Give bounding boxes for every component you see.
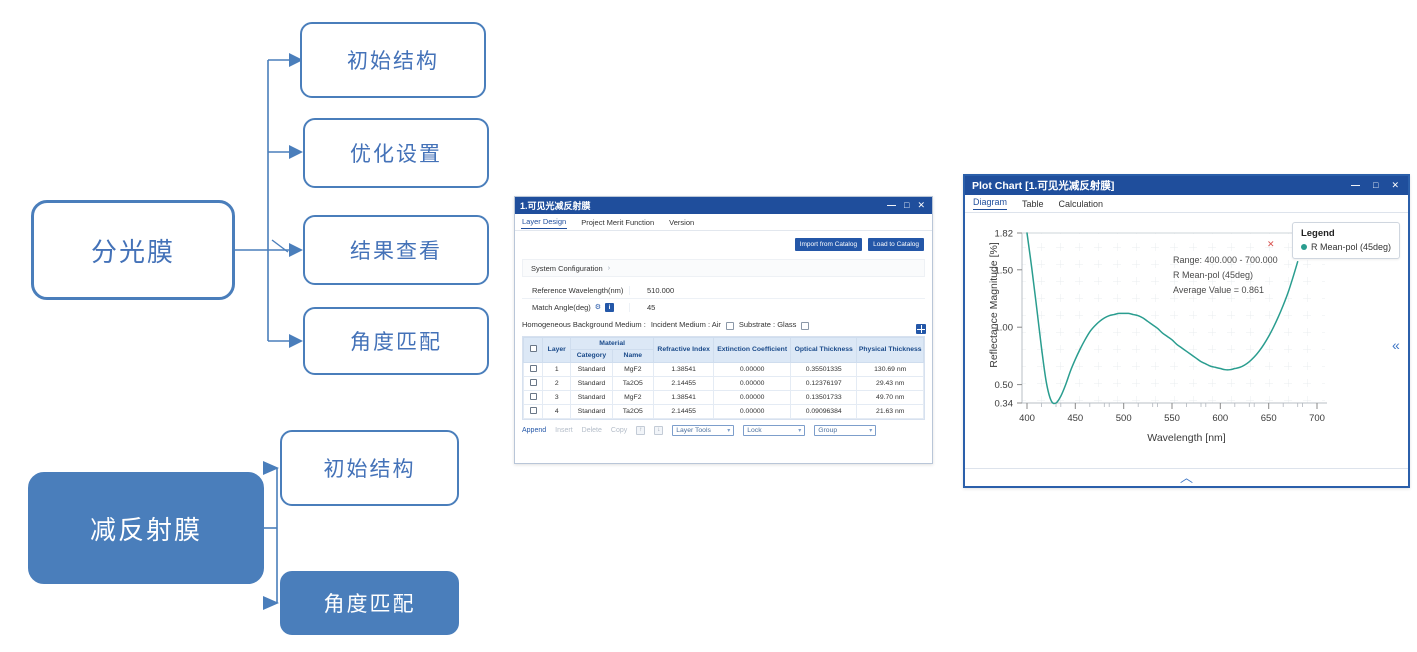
system-configuration-label: System Configuration bbox=[531, 264, 603, 273]
header-layer: Layer bbox=[543, 338, 571, 363]
plot-window-title: Plot Chart [1.可见光减反射膜] bbox=[972, 178, 1351, 193]
select-all-checkbox[interactable] bbox=[530, 345, 537, 352]
diagram-node-label: 角度匹配 bbox=[350, 326, 442, 356]
xtick-450: 450 bbox=[1067, 413, 1083, 424]
cell-category: Standard bbox=[571, 362, 612, 376]
cell-refractive-index: 2.14455 bbox=[653, 376, 713, 390]
chevron-right-icon: › bbox=[608, 265, 610, 272]
cell-name: Ta2O5 bbox=[612, 376, 653, 390]
cell-category: Standard bbox=[571, 404, 612, 418]
cell-extinction-coefficient: 0.00000 bbox=[714, 390, 791, 404]
edit-substrate-icon[interactable] bbox=[801, 322, 809, 330]
cell-extinction-coefficient: 0.00000 bbox=[714, 376, 791, 390]
header-optical-thickness: Optical Thickness bbox=[790, 338, 856, 363]
edit-incident-medium-icon[interactable] bbox=[726, 322, 734, 330]
chevron-down-icon: ▾ bbox=[798, 427, 801, 434]
gear-icon[interactable]: ⚙ bbox=[595, 303, 601, 311]
lock-label: Lock bbox=[747, 427, 761, 434]
layer-window-menubar: Layer Design Project Merit Function Vers… bbox=[515, 214, 932, 231]
cell-extinction-coefficient: 0.00000 bbox=[714, 362, 791, 376]
background-medium-row: Homogeneous Background Medium : Incident… bbox=[522, 320, 925, 329]
xtick-550: 550 bbox=[1164, 413, 1180, 424]
cell-refractive-index: 1.38541 bbox=[653, 390, 713, 404]
minimize-icon[interactable]: — bbox=[1351, 181, 1360, 190]
diagram-node-label: 结果查看 bbox=[350, 235, 442, 265]
cell-name: Ta2O5 bbox=[612, 404, 653, 418]
param-label: Reference Wavelength(nm) bbox=[522, 286, 629, 295]
row-checkbox-cell[interactable] bbox=[524, 404, 543, 418]
table-row[interactable]: 4 Standard Ta2O5 2.14455 0.00000 0.09096… bbox=[524, 404, 924, 418]
legend-title: Legend bbox=[1301, 228, 1391, 239]
menu-item-version[interactable]: Version bbox=[668, 216, 695, 229]
xtick-600: 600 bbox=[1212, 413, 1228, 424]
incident-medium-value: Incident Medium : Air bbox=[651, 320, 721, 329]
y-axis-label: Reflectance Magnitude [%] bbox=[988, 230, 1000, 380]
collapse-panel-icon[interactable]: « bbox=[1392, 337, 1400, 353]
chart-annotation: Range: 400.000 - 700.000 R Mean-pol (45d… bbox=[1173, 253, 1278, 298]
header-extinction-coefficient: Extinction Coefficient bbox=[714, 338, 791, 363]
row-checkbox[interactable] bbox=[530, 365, 537, 372]
chart-legend: Legend R Mean-pol (45deg) bbox=[1292, 222, 1400, 259]
layer-tools-label: Layer Tools bbox=[676, 427, 711, 434]
cell-physical-thickness: 49.70 nm bbox=[857, 390, 924, 404]
cell-name: MgF2 bbox=[612, 390, 653, 404]
flow-diagram: 分光膜 初始结构 优化设置 结果查看 角度匹配 减反射膜 初始结构 角度匹配 bbox=[0, 0, 500, 652]
match-angle-value[interactable]: 45 bbox=[629, 303, 925, 312]
row-checkbox-cell[interactable] bbox=[524, 362, 543, 376]
background-medium-label: Homogeneous Background Medium : bbox=[522, 320, 646, 329]
minimize-icon[interactable]: — bbox=[887, 201, 896, 210]
annotation-range: Range: 400.000 - 700.000 bbox=[1173, 253, 1278, 268]
xtick-400: 400 bbox=[1019, 413, 1035, 424]
catalog-toolbar: Import from Catalog Load to Catalog bbox=[515, 231, 932, 256]
layer-table: Layer Material Refractive Index Extincti… bbox=[523, 337, 924, 419]
cell-extinction-coefficient: 0.00000 bbox=[714, 404, 791, 418]
diagram-node-1-child-3[interactable]: 结果查看 bbox=[303, 215, 489, 285]
cell-physical-thickness: 130.69 nm bbox=[857, 362, 924, 376]
chevron-down-icon: ▾ bbox=[869, 427, 872, 434]
table-settings-icon[interactable] bbox=[916, 324, 926, 334]
cell-physical-thickness: 29.43 nm bbox=[857, 376, 924, 390]
tab-diagram[interactable]: Diagram bbox=[973, 197, 1007, 210]
header-name: Name bbox=[612, 350, 653, 362]
layer-window-titlebar[interactable]: 1.可见光减反射膜 — □ ✕ bbox=[515, 197, 932, 214]
table-row[interactable]: 1 Standard MgF2 1.38541 0.00000 0.355013… bbox=[524, 362, 924, 376]
delete-button[interactable]: Delete bbox=[582, 427, 602, 434]
table-header-row: Layer Material Refractive Index Extincti… bbox=[524, 338, 924, 350]
diagram-node-label: 分光膜 bbox=[91, 232, 175, 269]
close-icon[interactable]: ✕ bbox=[1391, 181, 1399, 190]
header-material: Material bbox=[571, 338, 654, 350]
cell-layer: 4 bbox=[543, 404, 571, 418]
diagram-node-2-child-2[interactable]: 角度匹配 bbox=[280, 571, 459, 635]
info-icon[interactable]: i bbox=[605, 303, 614, 312]
legend-entry[interactable]: R Mean-pol (45deg) bbox=[1301, 242, 1391, 252]
chart-footer: ︿ bbox=[965, 468, 1408, 486]
maximize-icon[interactable]: □ bbox=[904, 201, 909, 210]
plot-window-menubar: Diagram Table Calculation bbox=[965, 195, 1408, 213]
xtick-700: 700 bbox=[1309, 413, 1325, 424]
tab-table[interactable]: Table bbox=[1022, 199, 1044, 209]
chevron-up-icon[interactable]: ︿ bbox=[1180, 471, 1193, 484]
cell-name: MgF2 bbox=[612, 362, 653, 376]
cell-layer: 2 bbox=[543, 376, 571, 390]
cell-refractive-index: 2.14455 bbox=[653, 404, 713, 418]
annotation-average: Average Value = 0.861 bbox=[1173, 283, 1278, 298]
close-icon[interactable]: ✕ bbox=[917, 201, 925, 210]
ytick-050: 0.50 bbox=[995, 380, 1014, 391]
param-row-reference-wavelength: Reference Wavelength(nm) 510.000 bbox=[522, 283, 925, 299]
param-row-match-angle: Match Angle(deg) ⚙ i 45 bbox=[522, 299, 925, 315]
cell-optical-thickness: 0.35501335 bbox=[790, 362, 856, 376]
group-dropdown[interactable]: Group ▾ bbox=[814, 425, 876, 436]
diagram-node-2-child-1[interactable]: 初始结构 bbox=[280, 430, 459, 506]
ytick-034: 0.34 bbox=[995, 399, 1014, 410]
cell-optical-thickness: 0.13501733 bbox=[790, 390, 856, 404]
move-up-icon[interactable]: ↑ bbox=[636, 426, 645, 435]
lock-dropdown[interactable]: Lock ▾ bbox=[743, 425, 805, 436]
import-from-catalog-button[interactable]: Import from Catalog bbox=[795, 238, 862, 251]
row-checkbox[interactable] bbox=[530, 407, 537, 414]
chart-canvas: 1.82 1.50 1.00 0.50 0.34 bbox=[965, 213, 1408, 469]
chevron-down-icon: ▾ bbox=[727, 427, 730, 434]
reference-wavelength-value[interactable]: 510.000 bbox=[629, 286, 925, 295]
row-checkbox[interactable] bbox=[530, 379, 537, 386]
menu-item-project-merit-function[interactable]: Project Merit Function bbox=[580, 216, 655, 229]
xtick-500: 500 bbox=[1116, 413, 1132, 424]
plot-window-titlebar[interactable]: Plot Chart [1.可见光减反射膜] — □ ✕ bbox=[965, 176, 1408, 195]
append-button[interactable]: Append bbox=[522, 427, 546, 434]
diagram-node-label: 优化设置 bbox=[350, 138, 442, 168]
maximize-icon[interactable]: □ bbox=[1373, 181, 1378, 190]
load-to-catalog-button[interactable]: Load to Catalog bbox=[868, 238, 924, 251]
header-category: Category bbox=[571, 350, 612, 362]
layer-table-toolbar: Append Insert Delete Copy ↑ ↓ Layer Tool… bbox=[522, 425, 925, 440]
xtick-650: 650 bbox=[1261, 413, 1277, 424]
row-checkbox[interactable] bbox=[530, 393, 537, 400]
plot-chart-window: Plot Chart [1.可见光减反射膜] — □ ✕ Diagram Tab… bbox=[963, 174, 1410, 488]
cell-optical-thickness: 0.09096384 bbox=[790, 404, 856, 418]
cell-category: Standard bbox=[571, 376, 612, 390]
header-refractive-index: Refractive Index bbox=[653, 338, 713, 363]
header-physical-thickness: Physical Thickness bbox=[857, 338, 924, 363]
diagram-node-label: 角度匹配 bbox=[324, 588, 416, 618]
legend-entry-label: R Mean-pol (45deg) bbox=[1311, 242, 1391, 252]
param-label: Match Angle(deg) ⚙ i bbox=[522, 303, 629, 312]
header-select-all[interactable] bbox=[524, 338, 543, 363]
cell-physical-thickness: 21.63 nm bbox=[857, 404, 924, 418]
annotation-close-icon[interactable]: ✕ bbox=[1267, 239, 1275, 250]
cell-optical-thickness: 0.12376197 bbox=[790, 376, 856, 390]
diagram-node-root-2[interactable]: 减反射膜 bbox=[28, 472, 264, 584]
menu-item-layer-design[interactable]: Layer Design bbox=[521, 215, 567, 229]
legend-color-dot bbox=[1301, 244, 1307, 250]
layer-table-container: Layer Material Refractive Index Extincti… bbox=[522, 336, 925, 420]
x-axis-label: Wavelength [nm] bbox=[965, 432, 1408, 444]
parameter-table: Reference Wavelength(nm) 510.000 Match A… bbox=[522, 283, 925, 315]
move-down-icon[interactable]: ↓ bbox=[654, 426, 663, 435]
cell-layer: 1 bbox=[543, 362, 571, 376]
substrate-value: Substrate : Glass bbox=[739, 320, 797, 329]
cell-category: Standard bbox=[571, 390, 612, 404]
diagram-node-1-child-1[interactable]: 初始结构 bbox=[300, 22, 486, 98]
system-configuration-section[interactable]: System Configuration › bbox=[522, 259, 925, 277]
group-label: Group bbox=[818, 427, 837, 434]
row-checkbox-cell[interactable] bbox=[524, 390, 543, 404]
layer-tools-dropdown[interactable]: Layer Tools ▾ bbox=[672, 425, 734, 436]
diagram-node-label: 初始结构 bbox=[347, 45, 439, 75]
layer-window-title: 1.可见光减反射膜 bbox=[520, 199, 887, 212]
diagram-node-label: 减反射膜 bbox=[90, 510, 202, 547]
layer-design-window: 1.可见光减反射膜 — □ ✕ Layer Design Project Mer… bbox=[514, 196, 933, 464]
table-row[interactable]: 2 Standard Ta2O5 2.14455 0.00000 0.12376… bbox=[524, 376, 924, 390]
diagram-node-root-1[interactable]: 分光膜 bbox=[31, 200, 235, 300]
diagram-node-label: 初始结构 bbox=[324, 453, 416, 483]
copy-button[interactable]: Copy bbox=[611, 427, 627, 434]
row-checkbox-cell[interactable] bbox=[524, 376, 543, 390]
tab-calculation[interactable]: Calculation bbox=[1059, 199, 1104, 209]
cell-layer: 3 bbox=[543, 390, 571, 404]
diagram-node-1-child-4[interactable]: 角度匹配 bbox=[303, 307, 489, 375]
annotation-series: R Mean-pol (45deg) bbox=[1173, 268, 1278, 283]
diagram-node-1-child-2[interactable]: 优化设置 bbox=[303, 118, 489, 188]
cell-refractive-index: 1.38541 bbox=[653, 362, 713, 376]
insert-button[interactable]: Insert bbox=[555, 427, 573, 434]
table-row[interactable]: 3 Standard MgF2 1.38541 0.00000 0.135017… bbox=[524, 390, 924, 404]
